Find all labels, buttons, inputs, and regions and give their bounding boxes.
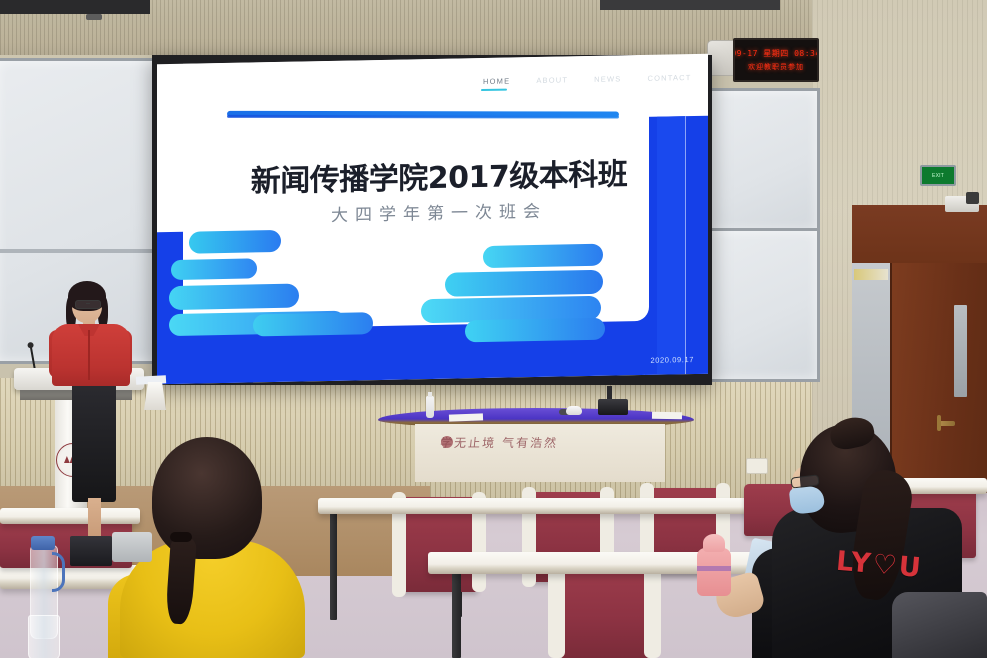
slide-date: 2020.09.17 xyxy=(650,355,694,365)
desk-grey-box xyxy=(112,532,152,562)
led-line-1: 09-17 星期四 08:34 xyxy=(733,48,819,59)
student-backpack xyxy=(892,592,987,658)
lecture-hall-photo: 09-17 星期四 08:34 欢迎教职员参加 EXIT HOME ABOUT … xyxy=(0,0,987,658)
slide-deco-bar-l2 xyxy=(171,258,257,280)
slide-divider-rule-shadow xyxy=(227,115,619,119)
desk-black-device xyxy=(598,399,628,415)
whiteboard-right-upper xyxy=(706,88,820,234)
water-bottle-cap xyxy=(31,536,55,550)
exit-sign-label: EXIT xyxy=(932,173,944,179)
drinking-glass[interactable] xyxy=(28,615,60,658)
desk-row-middle xyxy=(428,552,788,574)
device-stand xyxy=(607,386,612,400)
desk-row-front-left-upper xyxy=(0,508,140,524)
desk-paper-left xyxy=(449,413,483,421)
whiteboard-right-lower xyxy=(706,228,820,382)
slide-white-card: HOME ABOUT NEWS CONTACT 新闻传播学院2017级本科班 大… xyxy=(183,55,649,330)
nav-item-news[interactable]: NEWS xyxy=(594,74,621,84)
led-display-sign: 09-17 星期四 08:34 欢迎教职员参加 xyxy=(733,38,819,82)
nav-item-contact[interactable]: CONTACT xyxy=(647,73,691,83)
slide-nav-bar: HOME ABOUT NEWS CONTACT xyxy=(483,65,708,92)
door-wood-panel[interactable] xyxy=(890,263,987,493)
slide-deco-bar-l1 xyxy=(189,230,281,254)
nav-item-home[interactable]: HOME xyxy=(483,76,510,86)
door-vision-strip xyxy=(954,305,967,397)
ceiling-strip-right xyxy=(600,0,780,10)
door-handle-icon[interactable] xyxy=(939,421,955,426)
front-desk-motto: 学无止境 气有浩然 xyxy=(439,434,641,456)
presentation-slide: HOME ABOUT NEWS CONTACT 新闻传播学院2017级本科班 大… xyxy=(157,54,708,385)
student-black-shirt-text: LY♡U xyxy=(835,545,916,586)
slide-title: 新闻传播学院2017级本科班 xyxy=(229,149,649,201)
desk-leg xyxy=(330,505,337,620)
desk-dark-item xyxy=(70,536,112,566)
pink-thermos-cap xyxy=(703,534,725,552)
slide-deco-bar-r4 xyxy=(465,318,605,343)
door-transom xyxy=(852,205,987,263)
desk-row-back xyxy=(318,498,768,514)
pink-thermos[interactable] xyxy=(697,548,731,596)
projector-lens-icon xyxy=(966,192,979,204)
slide-deco-bar-l5 xyxy=(253,312,373,336)
door-escutcheon-icon xyxy=(937,415,941,431)
water-bottle-strap xyxy=(52,552,65,592)
student-yellow-hair xyxy=(152,437,262,559)
presenter-skirt xyxy=(72,382,116,502)
desk-paper-right xyxy=(652,412,682,420)
exit-sign: EXIT xyxy=(920,165,956,186)
hand-sanitizer-bottle xyxy=(426,396,434,418)
ceiling-sprinkler xyxy=(86,14,102,20)
led-line-2: 欢迎教职员参加 xyxy=(748,62,804,72)
slide-deco-bar-l3 xyxy=(169,284,299,310)
chair[interactable] xyxy=(560,560,650,658)
presenter-glasses-icon xyxy=(75,300,101,309)
nav-item-about[interactable]: ABOUT xyxy=(536,75,568,85)
presenter-shirt-placket xyxy=(88,330,90,380)
door-glass-top-strip xyxy=(854,269,888,280)
pink-thermos-band xyxy=(697,566,731,571)
presenter-leg xyxy=(88,498,101,538)
slide-subtitle: 大四学年第一次班会 xyxy=(229,195,649,228)
slide-deco-bar-r1 xyxy=(483,244,603,268)
slide-blue-accent-stripe xyxy=(657,116,686,375)
student-yellow-hair-tie xyxy=(170,532,192,542)
desk-white-mouse xyxy=(566,406,582,415)
slide-deco-bar-r2 xyxy=(445,270,603,297)
wall-outlet[interactable] xyxy=(746,458,768,474)
desk-leg xyxy=(452,568,461,658)
ceiling-strip-left xyxy=(0,0,150,14)
